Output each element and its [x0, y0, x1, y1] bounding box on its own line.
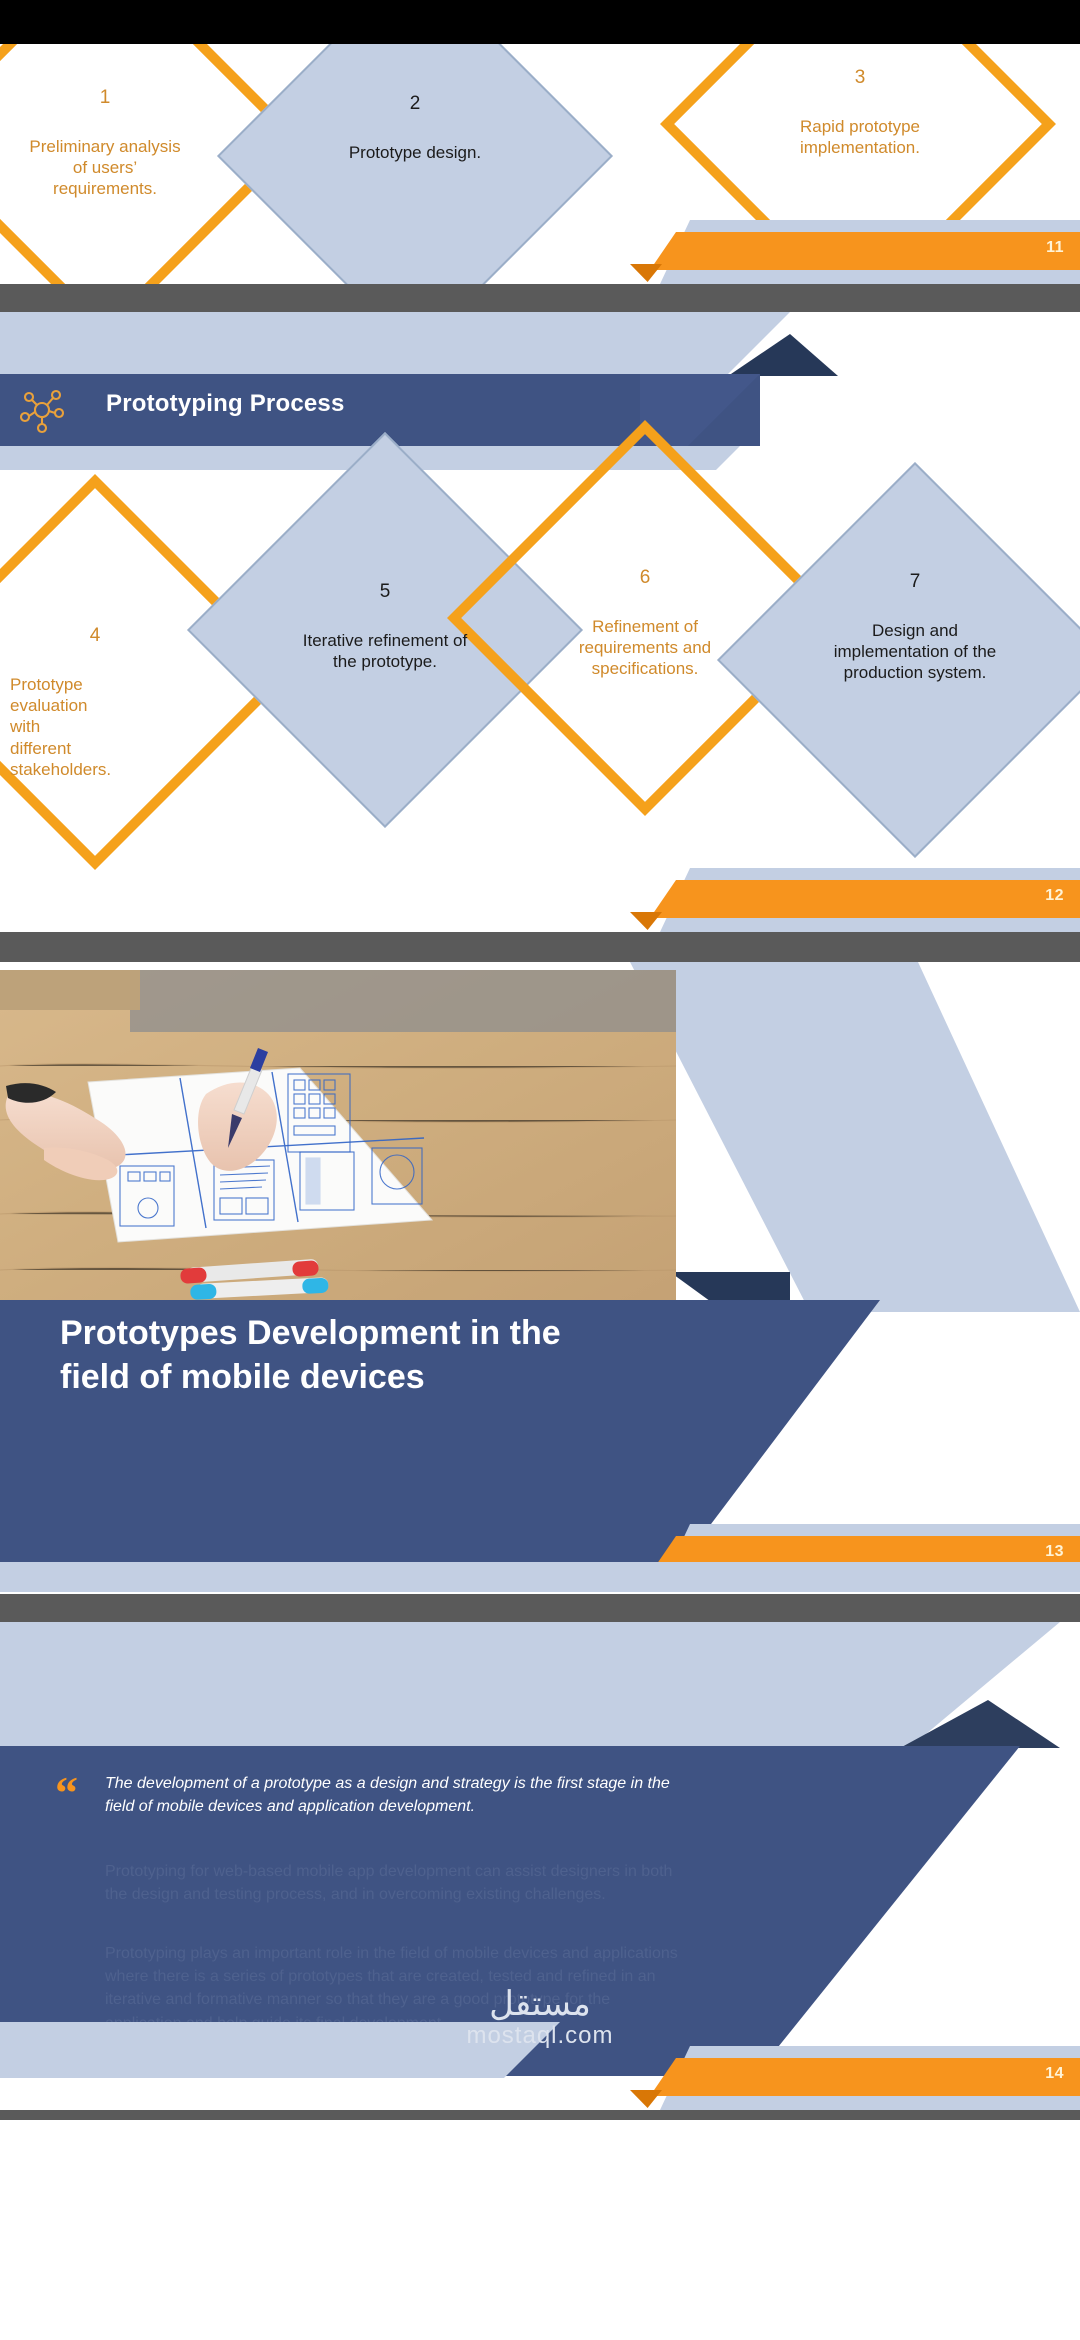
page-number-12: 12 [1045, 887, 1064, 905]
quote-text: The development of a prototype as a desi… [105, 1772, 685, 1818]
diamond-number-5: 5 [300, 580, 470, 604]
diamond-number-1: 1 [20, 86, 190, 110]
slide-gap-2 [0, 932, 1080, 962]
diamond-label-5: 5 Iterative refinement of the prototype. [300, 580, 470, 672]
diamond-number-3: 3 [775, 66, 945, 90]
diamond-number-7: 7 [830, 570, 1000, 594]
diamond-number-2: 2 [330, 92, 500, 116]
deck-screenshot: 1 Preliminary analysis of users’ require… [0, 0, 1080, 2120]
diamond-text-1: Preliminary analysis of users’ requireme… [20, 136, 190, 200]
ribbon-orange-bar [650, 880, 1080, 918]
diamond-number-4: 4 [10, 624, 180, 648]
section-title-12: Prototyping Process [106, 390, 345, 418]
top-black-strip [0, 0, 1080, 44]
hero-photo [0, 970, 676, 1320]
slide-13-title: Prototypes Development in the field of m… [60, 1312, 620, 1399]
diamond-text-7: Design and implementation of the product… [830, 620, 1000, 684]
ribbon-orange-bar [650, 2058, 1080, 2096]
page-number-14: 14 [1045, 2065, 1064, 2083]
slide-gap-1 [0, 284, 1080, 312]
diamond-shape-2 [217, 44, 613, 284]
diamond-label-4: 4 Prototype evaluation with different st… [10, 624, 180, 781]
diamond-label-7: 7 Design and implementation of the produ… [830, 570, 1000, 684]
network-hub-icon [18, 386, 66, 434]
page-ribbon-11: 11 [610, 220, 1080, 284]
diamond-label-6: 6 Refinement of requirements and specifi… [560, 566, 730, 680]
slide-gap-4 [0, 2110, 1080, 2120]
ribbon-fold [630, 2090, 662, 2108]
slide-14-lower-band [0, 2022, 560, 2078]
slide-13-lower-band [0, 1562, 1080, 1592]
page-number-13: 13 [1045, 1543, 1064, 1561]
quote-mark-icon: “ [55, 1770, 78, 1816]
diamond-label-3: 3 Rapid prototype implementation. [775, 66, 945, 158]
page-ribbon-12: 12 [610, 868, 1080, 932]
diamond-text-3: Rapid prototype implementation. [775, 116, 945, 159]
diamond-number-6: 6 [560, 566, 730, 590]
diamond-text-4: Prototype evaluation with different stak… [10, 674, 96, 780]
ribbon-fold [630, 264, 662, 282]
diamond-text-2: Prototype design. [330, 142, 500, 163]
header-light-band [0, 312, 790, 374]
diamond-text-6: Refinement of requirements and specifica… [560, 616, 730, 680]
diamond-text-5: Iterative refinement of the prototype. [300, 630, 470, 673]
diamond-label-2: 2 Prototype design. [330, 92, 500, 163]
section-header-12: Prototyping Process [0, 312, 1080, 482]
body-paragraph-1: Prototyping for web-based mobile app dev… [105, 1860, 685, 1906]
diamond-label-1: 1 Preliminary analysis of users’ require… [20, 86, 190, 200]
decor-top-light-band [0, 1622, 1060, 1746]
slide-13[interactable]: Prototypes Development in the field of m… [0, 962, 1080, 1594]
decor-light-wedge [630, 962, 1080, 1312]
slide-12-diamond-row: 4 Prototype evaluation with different st… [0, 482, 1080, 882]
slide-12[interactable]: Prototyping Process 4 Prototype evaluati… [0, 312, 1080, 932]
ribbon-orange-bar [650, 232, 1080, 270]
page-ribbon-14: 14 [610, 2046, 1080, 2110]
slide-11[interactable]: 1 Preliminary analysis of users’ require… [0, 44, 1080, 284]
page-number-11: 11 [1046, 239, 1064, 257]
slide-14[interactable]: “ The development of a prototype as a de… [0, 1622, 1080, 2110]
body-paragraph-2: Prototyping plays an important role in t… [105, 1942, 685, 2035]
slide-gap-3 [0, 1594, 1080, 1622]
ribbon-fold [630, 912, 662, 930]
